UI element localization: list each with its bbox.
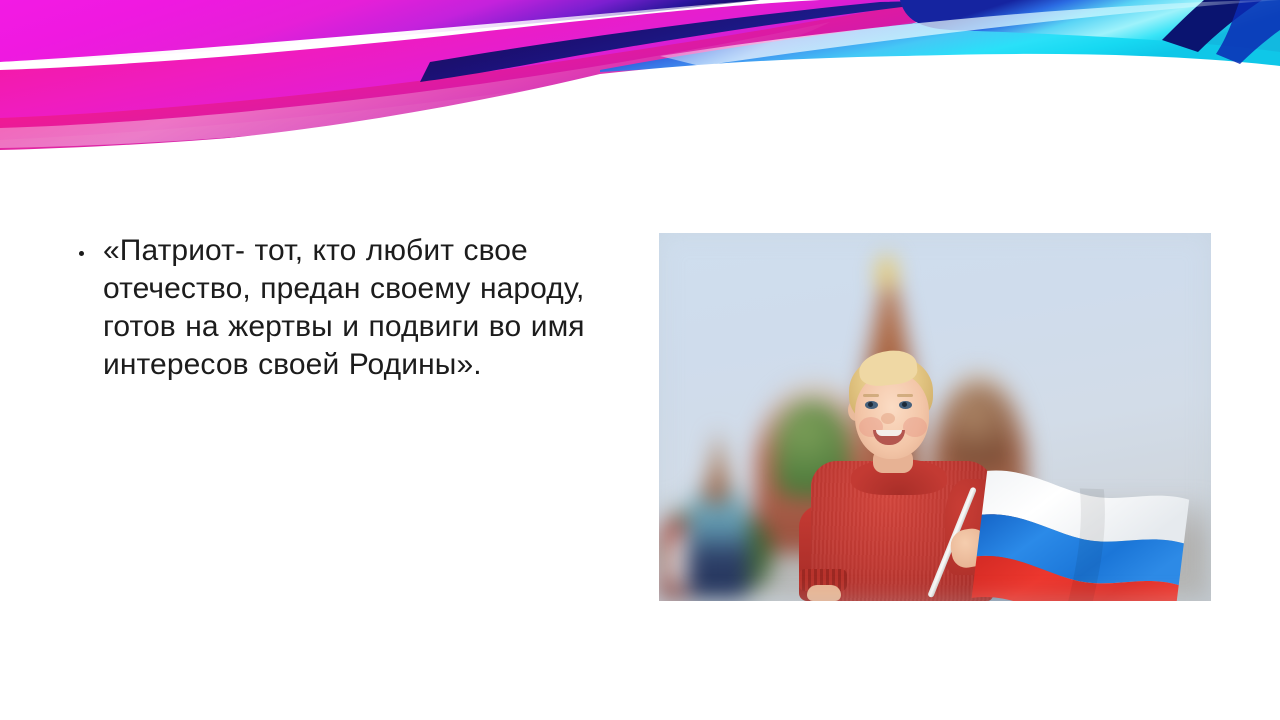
teeth <box>876 430 902 436</box>
photo-frame <box>659 233 1211 601</box>
russian-flag-icon <box>969 461 1195 601</box>
slide: «Патриот- тот, кто любит свое отечество,… <box>0 0 1280 720</box>
eyebrow-left <box>863 394 879 397</box>
boy-with-russian-flag-photo <box>659 233 1211 601</box>
eye-left <box>865 401 878 409</box>
bullet-point-icon <box>79 251 84 256</box>
eye-right <box>899 401 912 409</box>
eyebrow-right <box>897 394 913 397</box>
header-ribbon-decoration <box>0 0 1280 175</box>
quote-paragraph: «Патриот- тот, кто любит свое отечество,… <box>103 232 590 384</box>
cheek-right <box>903 417 927 437</box>
hand-left <box>807 585 841 601</box>
ribbon-graphic <box>0 0 1280 175</box>
nose <box>881 413 895 424</box>
bullet-list-item: «Патриот- тот, кто любит свое отечество,… <box>70 232 590 384</box>
russian-flag <box>969 461 1195 601</box>
content-text-block: «Патриот- тот, кто любит свое отечество,… <box>70 232 590 384</box>
